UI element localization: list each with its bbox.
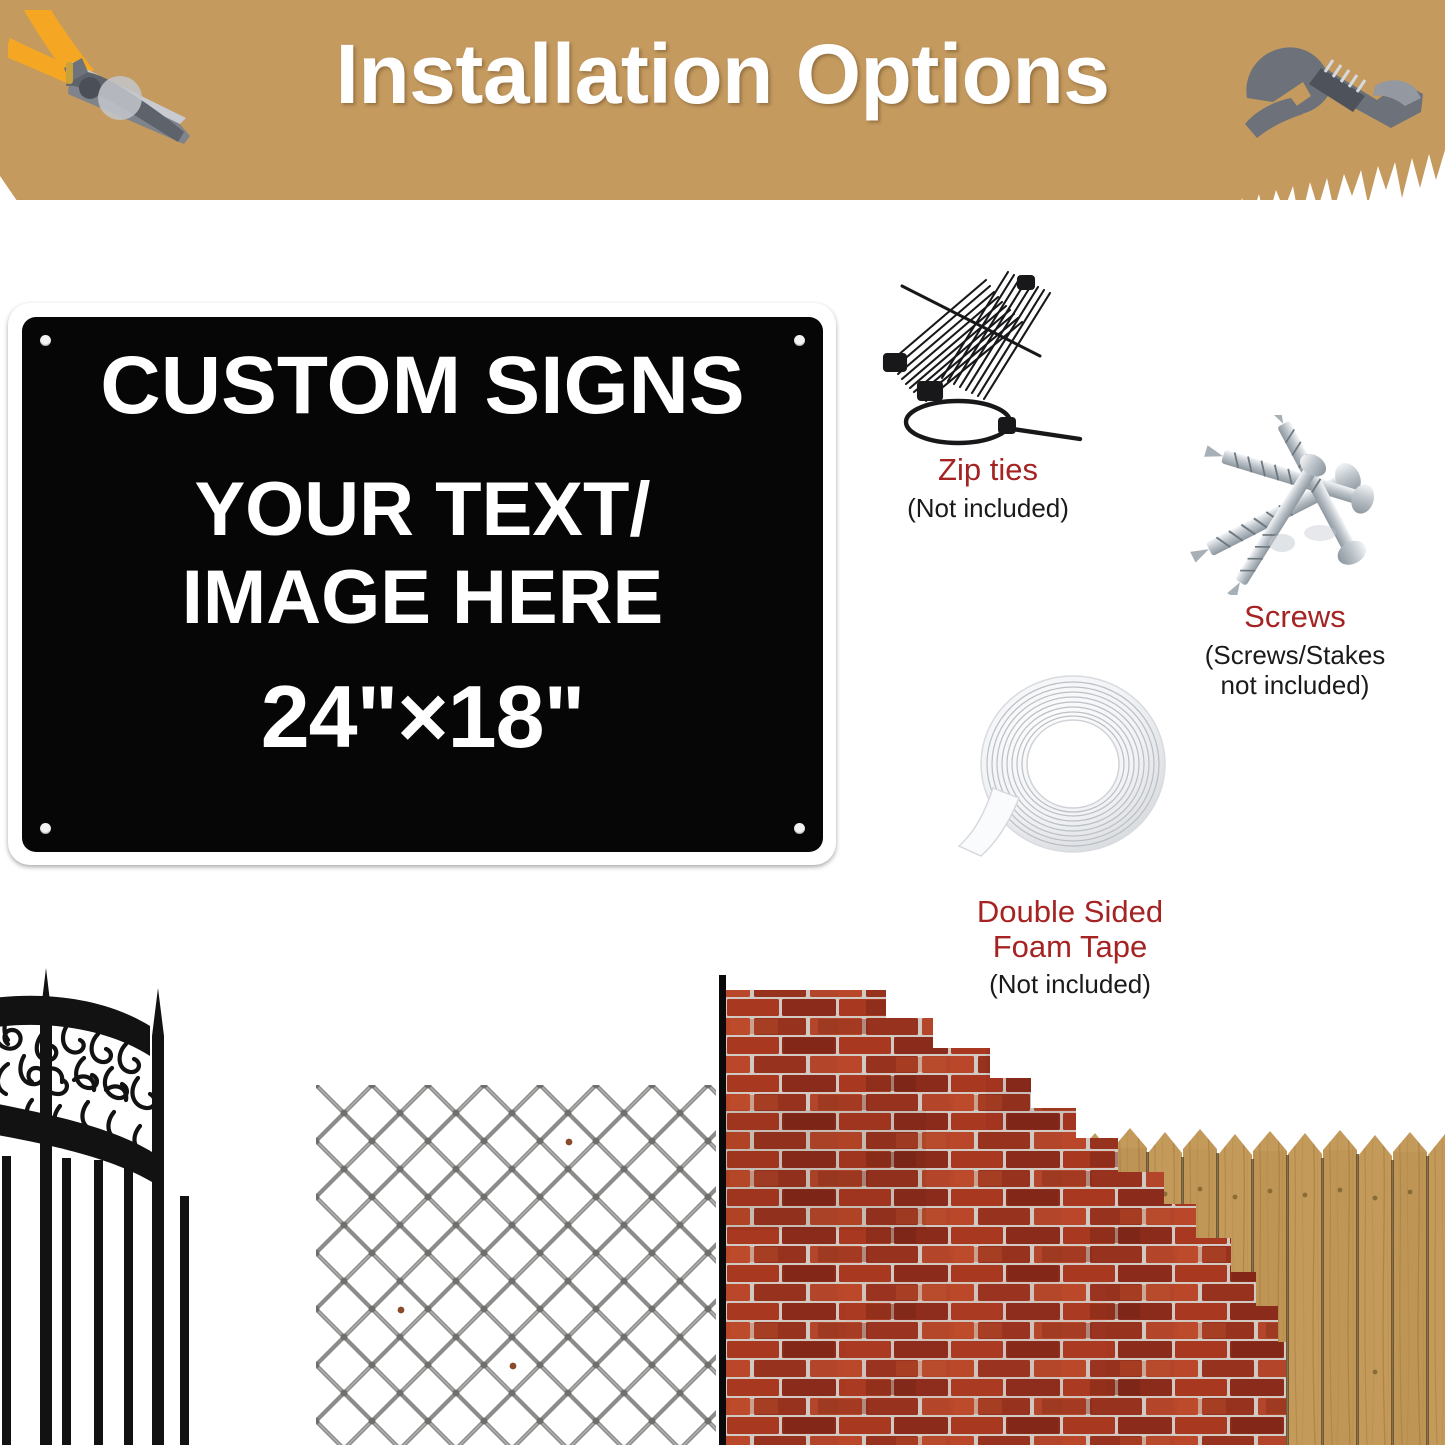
accessory-title: Screws [1150,600,1440,635]
mounting-surfaces-left [0,960,719,1445]
sign-subline-2: IMAGE HERE [22,554,823,642]
mounting-surfaces-right [726,960,1445,1445]
accessory-title: Double Sided Foam Tape [920,895,1220,964]
mount-hole-icon [794,823,805,834]
sign-text-block: CUSTOM SIGNS YOUR TEXT/ IMAGE HERE 24"×1… [22,344,823,768]
accessory-foam-tape: Double Sided Foam Tape (Not included) [920,660,1220,1000]
mount-hole-icon [40,823,51,834]
chain-link-fence-icon [316,1085,716,1445]
wrought-iron-gate-icon [0,960,348,1445]
custom-sign-preview: CUSTOM SIGNS YOUR TEXT/ IMAGE HERE 24"×1… [8,303,836,865]
red-brick-wall-icon [726,960,1286,1445]
sign-face: CUSTOM SIGNS YOUR TEXT/ IMAGE HERE 24"×1… [22,317,823,852]
sign-dimensions: 24"×18" [22,666,823,768]
sign-subline-1: YOUR TEXT/ [22,466,823,554]
screws-icon [1170,415,1420,595]
accessory-note: (Not included) [838,493,1138,524]
zip-ties-icon [858,258,1118,448]
zip-tie-head-icon [998,417,1016,434]
foam-tape-icon [945,660,1195,890]
header-banner: Installation Options [0,0,1445,200]
sign-headline: CUSTOM SIGNS [14,344,831,428]
page-title: Installation Options [0,26,1445,123]
accessory-screws: Screws (Screws/Stakes not included) [1150,415,1440,701]
section-divider [719,975,726,1445]
accessory-zip-ties: Zip ties (Not included) [838,258,1138,523]
accessory-title: Zip ties [838,453,1138,488]
